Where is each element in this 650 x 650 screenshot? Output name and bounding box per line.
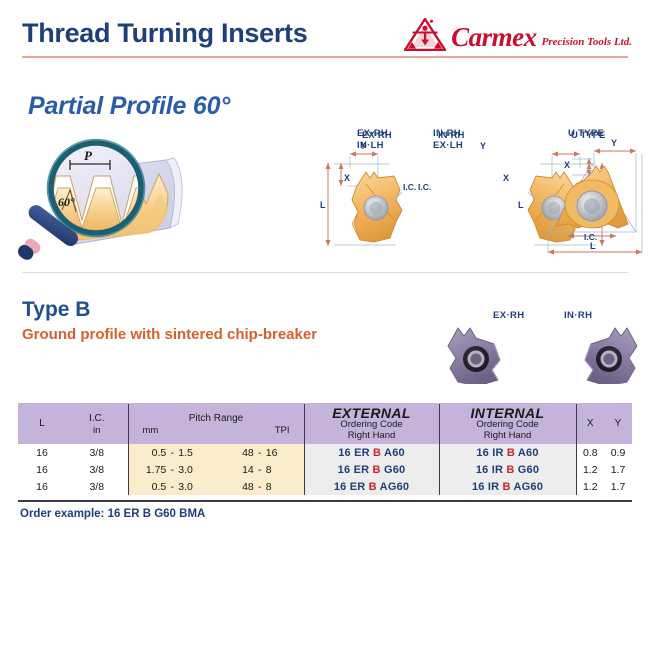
svg-text:Y: Y xyxy=(480,141,486,151)
diagram-label-ex-rh: EX·RH xyxy=(357,128,388,140)
int-code-prefix: 16 IR xyxy=(476,447,503,459)
cell-pitch-mm: 0.5 - 3.0 xyxy=(128,478,216,495)
cell-pitch-tpi-dash: - xyxy=(254,464,266,476)
spec-table-container: L I.C. in Pitch Range mm TPI EXTERNAL xyxy=(18,404,632,495)
col-header-pitch-range: Pitch Range mm TPI xyxy=(128,404,304,444)
type-b-title: Type B xyxy=(22,298,90,322)
table-bottom-edge xyxy=(18,500,632,502)
cell-pitch-mm: 1.75 - 3.0 xyxy=(128,461,216,478)
cell-pitch-mm-from: 0.5 xyxy=(132,481,166,493)
cell-pitch-tpi-to: 8 xyxy=(266,481,300,493)
int-code-b: B xyxy=(507,447,515,459)
col-header-l: L xyxy=(18,404,66,444)
svg-text:Y: Y xyxy=(611,138,617,148)
int-code-prefix: 16 IR xyxy=(472,481,499,493)
svg-text:X: X xyxy=(564,160,570,170)
col-header-external-sub1: Ordering Code xyxy=(305,419,439,430)
col-header-internal-text: INTERNAL xyxy=(440,407,576,419)
cell-external-code: 16 ER B A60 xyxy=(304,444,439,461)
cell-pitch-tpi: 48 - 8 xyxy=(216,478,304,495)
brand-logo: Carmex Precision Tools Ltd. xyxy=(404,18,632,51)
svg-text:X: X xyxy=(503,173,509,183)
cell-external-code: 16 ER B G60 xyxy=(304,461,439,478)
cell-internal-code: 16 IR B G60 xyxy=(439,461,576,478)
cell-x: 1.2 xyxy=(576,478,604,495)
cell-pitch-mm-to: 3.0 xyxy=(178,464,212,476)
cell-pitch-mm: 0.5 - 1.5 xyxy=(128,444,216,461)
ext-code-b: B xyxy=(373,447,381,459)
brand-name: Carmex xyxy=(451,24,537,51)
cell-l: 16 xyxy=(18,478,66,495)
cell-ic: 3/8 xyxy=(66,461,128,478)
cell-internal-code: 16 IR B A60 xyxy=(439,444,576,461)
carmex-triangle-logo-icon xyxy=(404,18,446,51)
cell-x: 1.2 xyxy=(576,461,604,478)
svg-text:X: X xyxy=(344,173,350,183)
diagram-label-in-rh: IN·RH xyxy=(433,128,461,140)
table-body: 16 3/8 0.5 - 1.5 48 - 16 xyxy=(18,444,632,495)
ext-code-prefix: 16 ER xyxy=(338,447,370,459)
cell-pitch-mm-dash: - xyxy=(166,464,178,476)
int-code-suffix: AG60 xyxy=(514,481,544,493)
angle-label: 60° xyxy=(58,195,75,209)
diagram-label-in-lh: IN·LH xyxy=(357,140,384,152)
svg-text:L: L xyxy=(320,200,326,210)
diagram-label-u-type: U TYPE xyxy=(568,128,604,140)
header-divider xyxy=(22,56,628,58)
col-header-pitch-text: Pitch Range xyxy=(129,413,304,425)
ext-code-prefix: 16 ER xyxy=(334,481,366,493)
col-header-ic-unit: in xyxy=(66,425,128,436)
section-divider xyxy=(22,272,628,273)
cell-pitch-mm-to: 3.0 xyxy=(178,481,212,493)
svg-text:I.C.: I.C. xyxy=(418,182,431,192)
svg-text:L: L xyxy=(518,200,524,210)
int-code-suffix: G60 xyxy=(518,464,539,476)
cell-y: 0.9 xyxy=(604,444,632,461)
page-header: Thread Turning Inserts Carmex Precision … xyxy=(0,0,650,62)
table-header-row: L I.C. in Pitch Range mm TPI EXTERNAL xyxy=(18,404,632,444)
cell-ic: 3/8 xyxy=(66,478,128,495)
cell-pitch-mm-dash: - xyxy=(166,447,178,459)
diagram-label-ex-lh: EX·LH xyxy=(433,140,463,152)
table-row[interactable]: 16 3/8 0.5 - 3.0 48 - 8 xyxy=(18,478,632,495)
col-header-internal-sub1: Ordering Code xyxy=(440,419,576,430)
cell-pitch-tpi-from: 48 xyxy=(220,481,254,493)
pitch-label: P xyxy=(84,148,93,163)
ext-code-b: B xyxy=(369,481,377,493)
cell-external-code: 16 ER B AG60 xyxy=(304,478,439,495)
col-header-external-text: EXTERNAL xyxy=(305,407,439,419)
cell-pitch-tpi-dash: - xyxy=(254,447,266,459)
cell-pitch-mm-from: 0.5 xyxy=(132,447,166,459)
col-header-x: X xyxy=(576,404,604,444)
cell-pitch-tpi: 14 - 8 xyxy=(216,461,304,478)
page-title: Thread Turning Inserts xyxy=(22,18,307,49)
brand-tagline: Precision Tools Ltd. xyxy=(542,37,632,51)
spec-table: L I.C. in Pitch Range mm TPI EXTERNAL xyxy=(18,404,632,495)
svg-text:L: L xyxy=(590,241,596,251)
cell-pitch-tpi-dash: - xyxy=(254,481,266,493)
magnifier-thread-profile-icon: P 60° xyxy=(18,132,208,267)
cell-pitch-tpi-from: 48 xyxy=(220,447,254,459)
type-b-insert-photos: EX·RH IN·RH xyxy=(440,306,645,384)
cell-l: 16 xyxy=(18,461,66,478)
table-row[interactable]: 16 3/8 0.5 - 1.5 48 - 16 xyxy=(18,444,632,461)
cell-pitch-mm-dash: - xyxy=(166,481,178,493)
photo-label-ex-rh: EX·RH xyxy=(493,310,525,321)
catalog-page: Thread Turning Inserts Carmex Precision … xyxy=(0,0,650,650)
cell-pitch-tpi-to: 16 xyxy=(266,447,300,459)
cell-pitch-tpi: 48 - 16 xyxy=(216,444,304,461)
ext-code-b: B xyxy=(373,464,381,476)
cell-ic: 3/8 xyxy=(66,444,128,461)
col-header-internal: INTERNAL Ordering Code Right Hand xyxy=(439,404,576,444)
cell-pitch-mm-to: 1.5 xyxy=(178,447,212,459)
insert-dimension-diagrams: L X Y xyxy=(300,128,645,263)
col-header-pitch-mm: mm xyxy=(143,425,159,436)
cell-internal-code: 16 IR B AG60 xyxy=(439,478,576,495)
section-title-partial-profile: Partial Profile 60° xyxy=(28,92,230,121)
order-example-text: Order example: 16 ER B G60 BMA xyxy=(20,508,205,520)
cell-x: 0.8 xyxy=(576,444,604,461)
svg-text:I.C.: I.C. xyxy=(403,182,416,192)
cell-y: 1.7 xyxy=(604,461,632,478)
col-header-ic: I.C. in xyxy=(66,404,128,444)
cell-pitch-tpi-to: 8 xyxy=(266,464,300,476)
col-header-pitch-tpi: TPI xyxy=(275,425,290,436)
col-header-external: EXTERNAL Ordering Code Right Hand xyxy=(304,404,439,444)
col-header-y: Y xyxy=(604,404,632,444)
table-row[interactable]: 16 3/8 1.75 - 3.0 14 - 8 xyxy=(18,461,632,478)
cell-l: 16 xyxy=(18,444,66,461)
ext-code-prefix: 16 ER xyxy=(338,464,370,476)
col-header-ic-text: I.C. xyxy=(66,413,128,425)
col-header-internal-sub2: Right Hand xyxy=(440,430,576,441)
ext-code-suffix: AG60 xyxy=(380,481,410,493)
cell-pitch-tpi-from: 14 xyxy=(220,464,254,476)
int-code-b: B xyxy=(506,464,514,476)
int-code-prefix: 16 IR xyxy=(476,464,503,476)
int-code-suffix: A60 xyxy=(518,447,539,459)
photo-label-in-rh: IN·RH xyxy=(564,310,592,321)
cell-y: 1.7 xyxy=(604,478,632,495)
ext-code-suffix: G60 xyxy=(384,464,405,476)
col-header-external-sub2: Right Hand xyxy=(305,430,439,441)
ext-code-suffix: A60 xyxy=(384,447,405,459)
cell-pitch-mm-from: 1.75 xyxy=(132,464,166,476)
type-b-subtitle: Ground profile with sintered chip-breake… xyxy=(22,326,317,343)
int-code-b: B xyxy=(503,481,511,493)
